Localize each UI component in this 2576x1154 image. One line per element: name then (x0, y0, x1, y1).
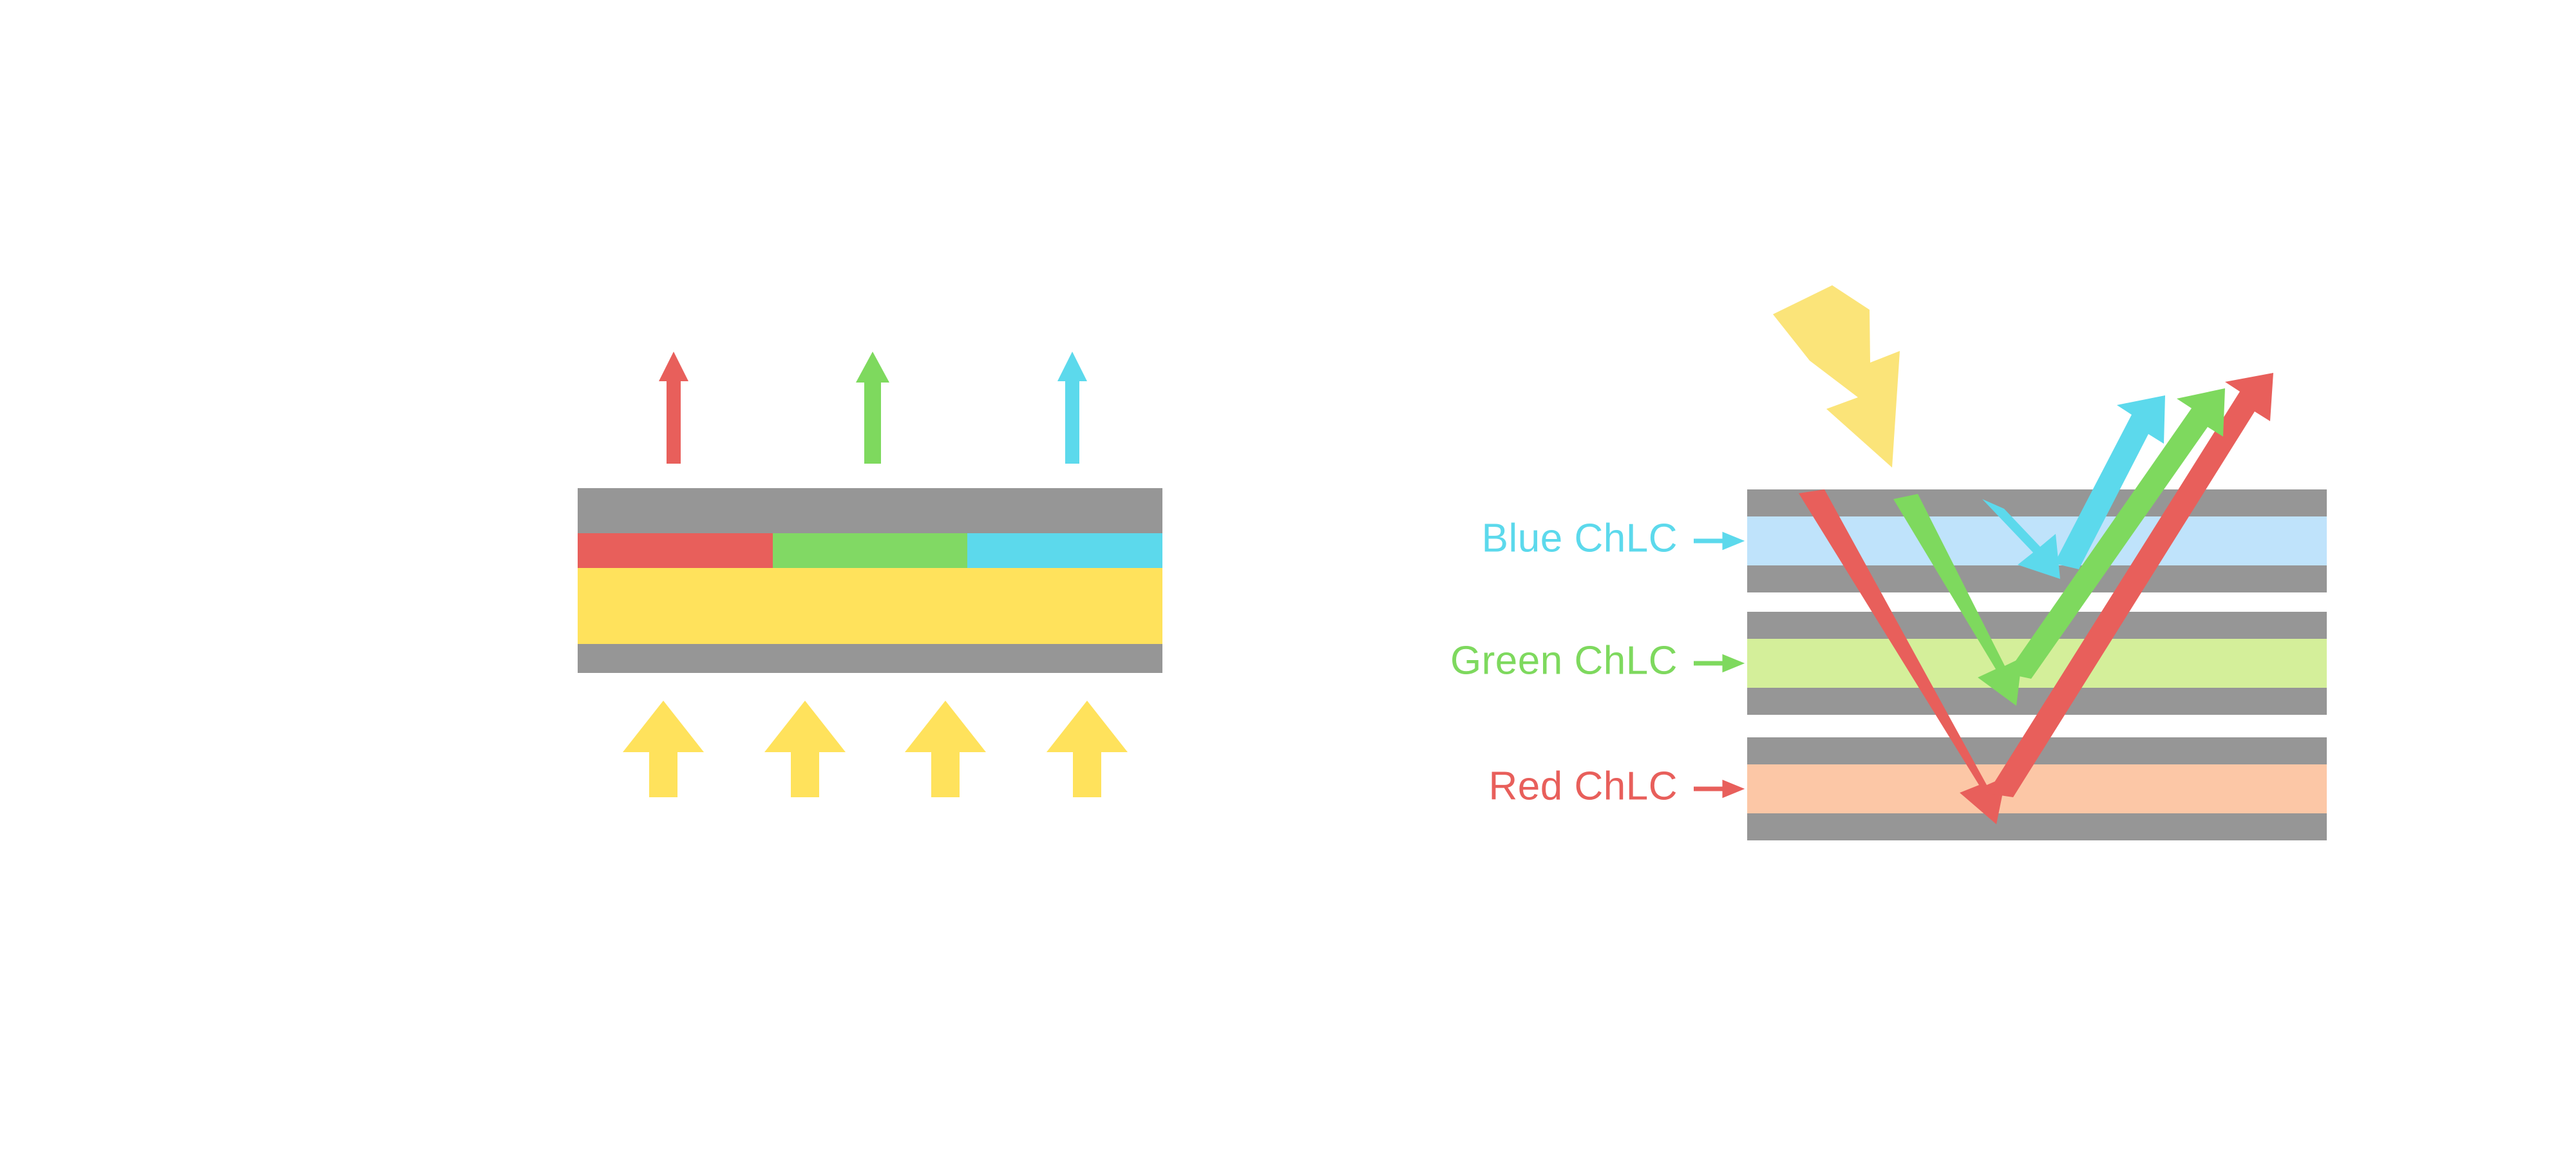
green-cell-bottom-electrode (1747, 688, 2327, 715)
red-chlc-label: Red ChLC (1489, 764, 1678, 808)
left-top-electrode (578, 488, 1162, 533)
green-emission-arrow (856, 352, 889, 464)
backlight-layer (578, 568, 1162, 644)
blue-subpixel (967, 533, 1162, 568)
red-chlc-label-arrow (1694, 783, 1739, 795)
red-emission-arrow (659, 352, 688, 464)
blue-chlc-label: Blue ChLC (1482, 516, 1678, 560)
cyan-emission-arrow (1057, 352, 1087, 464)
red-chlc-layer (1747, 764, 2327, 813)
backlight-arrow-1 (623, 701, 704, 797)
backlight-arrow-4 (1046, 701, 1128, 797)
left-bottom-electrode (578, 644, 1162, 673)
red-subpixel (578, 533, 773, 568)
right-labels-group: Blue ChLC Green ChLC Red ChLC (1450, 516, 1739, 808)
red-cell-bottom-electrode (1747, 813, 2327, 840)
right-panel-group: Blue ChLC Green ChLC Red ChLC (1450, 285, 2327, 840)
green-subpixel (773, 533, 967, 568)
left-emitted-arrows-group (659, 352, 1087, 464)
backlight-arrow-2 (764, 701, 846, 797)
diagram-svg: Blue ChLC Green ChLC Red ChLC (0, 0, 2576, 1154)
left-panel-group (578, 352, 1162, 797)
backlight-arrows-group (623, 701, 1128, 797)
ambient-light-arrow (1773, 285, 1900, 468)
green-chlc-label-arrow (1694, 657, 1739, 669)
backlight-arrow-3 (905, 701, 986, 797)
blue-chlc-label-arrow (1694, 535, 1739, 547)
green-chlc-label: Green ChLC (1450, 638, 1678, 683)
left-stack-group (578, 488, 1162, 673)
diagram-canvas: Blue ChLC Green ChLC Red ChLC (0, 0, 2576, 1154)
